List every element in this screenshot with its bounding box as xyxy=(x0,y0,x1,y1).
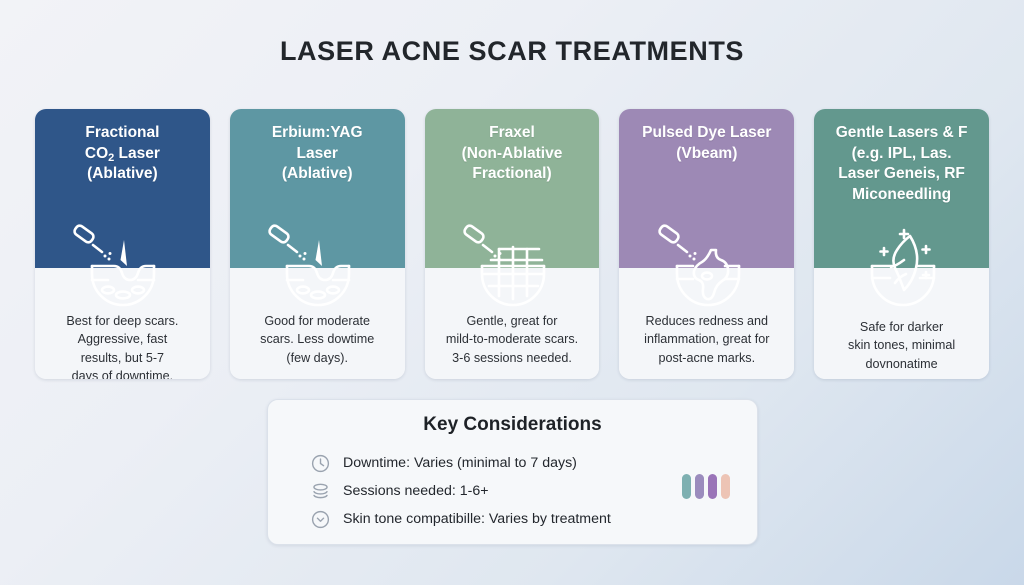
treatment-card-gentle-lasers-rf[interactable]: Gentle Lasers & F (e.g. IPL, Las. Laser … xyxy=(814,109,989,379)
key-considerations-panel: Key Considerations Downtime: Varies (min… xyxy=(267,399,758,545)
card-body: Gentle, great for mild-to-moderate scars… xyxy=(425,268,600,379)
card-title-subscript: 2 xyxy=(108,152,114,164)
card-header: Erbium:YAG Laser (Ablative) xyxy=(230,109,405,268)
page-title: LASER ACNE SCAR TREATMENTS xyxy=(0,36,1024,67)
chevron-down-circle-icon xyxy=(310,509,331,530)
color-swatch xyxy=(708,474,717,499)
color-swatch xyxy=(695,474,704,499)
treatment-cards-row: FractionalCO2 Laser(Ablative) xyxy=(35,109,989,379)
card-description: Gentle, great for mild-to-moderate scars… xyxy=(436,312,589,367)
treatment-card-fraxel[interactable]: Fraxel (Non-Ablative Fractional) Gentle,… xyxy=(425,109,600,379)
key-considerations-title: Key Considerations xyxy=(290,414,735,436)
card-title-line2-pre: CO xyxy=(85,145,108,162)
treatment-card-erbium-yag[interactable]: Erbium:YAG Laser (Ablative) xyxy=(230,109,405,379)
key-consideration-row-skin-tone: Skin tone compatibille: Varies by treatm… xyxy=(310,505,735,533)
key-consideration-text: Sessions needed: 1-6+ xyxy=(343,483,489,499)
card-title-line3: (Ablative) xyxy=(87,165,158,182)
card-header: Pulsed Dye Laser (Vbeam) xyxy=(619,109,794,268)
treatment-card-fractional-co2[interactable]: FractionalCO2 Laser(Ablative) xyxy=(35,109,210,379)
color-swatch xyxy=(721,474,730,499)
key-consideration-text: Skin tone compatibille: Varies by treatm… xyxy=(343,511,611,527)
color-swatch xyxy=(682,474,691,499)
card-body: Best for deep scars. Aggressive, fast re… xyxy=(35,268,210,379)
card-header: Gentle Lasers & F (e.g. IPL, Las. Laser … xyxy=(814,109,989,268)
card-title: FractionalCO2 Laser(Ablative) xyxy=(43,123,202,185)
card-header: FractionalCO2 Laser(Ablative) xyxy=(35,109,210,268)
card-body: Reduces redness and inflammation, great … xyxy=(619,268,794,379)
card-title-line1: Fractional xyxy=(85,124,159,141)
key-consideration-text: Downtime: Varies (minimal to 7 days) xyxy=(343,455,577,471)
card-body: Safe for darker skin tones, minimal dovn… xyxy=(814,268,989,379)
key-consideration-row-downtime: Downtime: Varies (minimal to 7 days) xyxy=(310,449,735,477)
clock-icon xyxy=(310,453,331,474)
card-title: Gentle Lasers & F (e.g. IPL, Las. Laser … xyxy=(822,123,981,205)
card-description: Good for moderate scars. Less dowtime (f… xyxy=(241,312,394,367)
card-body: Good for moderate scars. Less dowtime (f… xyxy=(230,268,405,379)
card-title-line2-post: Laser xyxy=(114,145,160,162)
card-header: Fraxel (Non-Ablative Fractional) xyxy=(425,109,600,268)
card-title: Pulsed Dye Laser (Vbeam) xyxy=(627,123,786,164)
card-title: Erbium:YAG Laser (Ablative) xyxy=(238,123,397,185)
card-title: Fraxel (Non-Ablative Fractional) xyxy=(433,123,592,185)
key-consideration-row-sessions: Sessions needed: 1-6+ xyxy=(310,477,735,505)
card-description: Reduces redness and inflammation, great … xyxy=(630,312,783,367)
color-swatch-group xyxy=(682,474,730,499)
card-description: Best for deep scars. Aggressive, fast re… xyxy=(46,312,199,379)
layers-stack-icon xyxy=(310,481,331,502)
treatment-card-pulsed-dye-laser[interactable]: Pulsed Dye Laser (Vbeam) Reduces redness… xyxy=(619,109,794,379)
card-description: Safe for darker skin tones, minimal dovn… xyxy=(825,318,978,373)
